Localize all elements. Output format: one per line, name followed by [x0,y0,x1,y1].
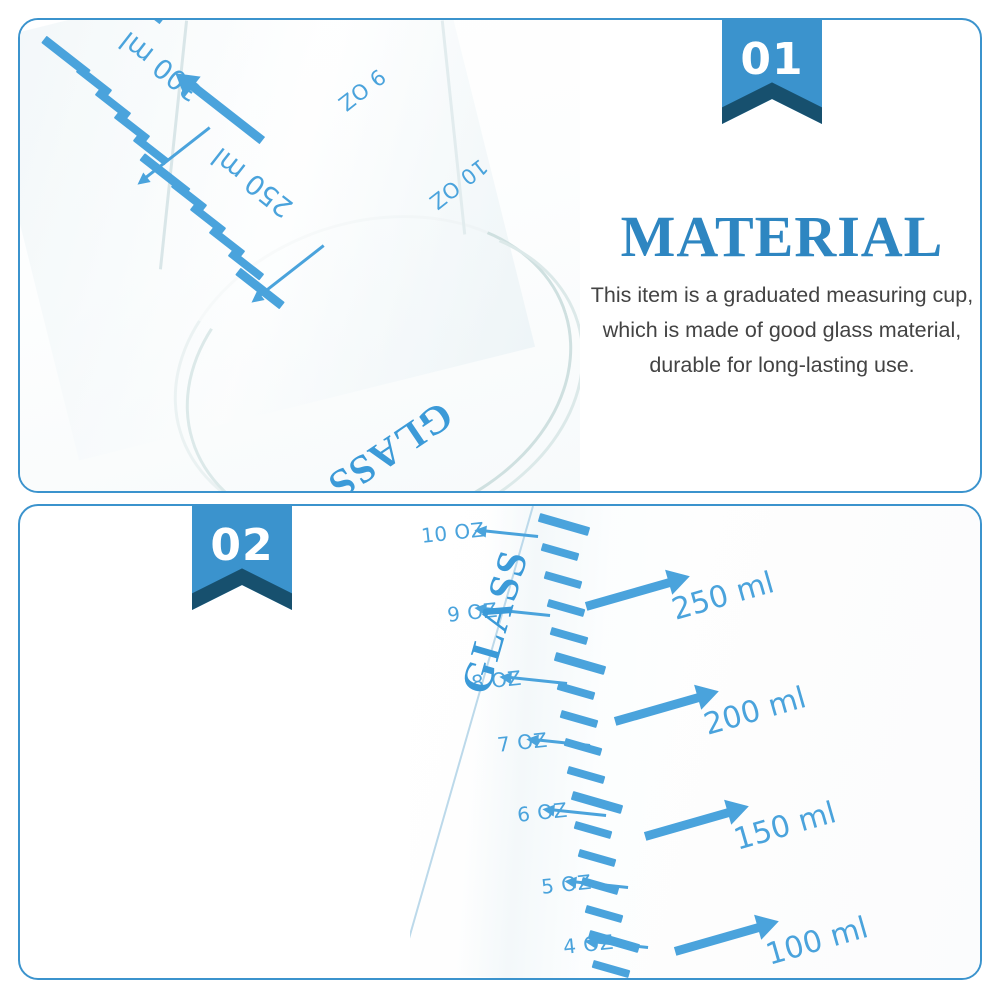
scale-tick [592,960,631,978]
ml-arrow-300 [67,20,162,21]
scale-tick [574,821,613,839]
ribbon-number: 01 [722,20,822,98]
scale-tick [560,710,599,728]
scale-tick [564,738,603,756]
feature-card-design: 250 ml 200 ml 150 ml 100 ml 10 OZ 9 OZ 8… [18,504,982,980]
oz-label-10: 10 OZ [425,154,492,214]
feature-text-material: MATERIAL This item is a graduated measur… [572,208,982,382]
scale-tick [557,682,596,700]
infographic-canvas: 250 ml 300 ml 9 OZ 10 OZ GLASS 01 MATERI… [0,0,1000,1000]
scale-tick [209,227,245,258]
oz-label-4: 4 OZ [562,930,615,959]
step-badge-02: 02 [192,506,292,610]
scale-group-inverted: 250 ml 300 ml 9 OZ 10 OZ GLASS [20,20,580,491]
step-badge-01: 01 [722,20,822,124]
oz-label-7: 7 OZ [496,728,549,757]
scale-tick [544,571,583,589]
scale-tick [550,627,589,645]
product-photo-inverted-cup: 250 ml 300 ml 9 OZ 10 OZ GLASS [20,20,580,491]
scale-tick [95,89,131,120]
brand-text-glass: GLASS [319,392,462,491]
feature-card-material: 250 ml 300 ml 9 OZ 10 OZ GLASS 01 MATERI… [18,18,982,493]
scale-tick [578,849,617,867]
product-photo-scale-closeup: 250 ml 200 ml 150 ml 100 ml 10 OZ 9 OZ 8… [410,506,982,978]
scale-tick [76,66,112,97]
scale-tick [554,652,606,675]
oz-label-10: 10 OZ [420,517,486,548]
scale-tick [541,543,580,561]
scale-tick [171,181,207,212]
oz-label-6: 6 OZ [516,798,569,827]
ribbon-number: 02 [192,506,292,584]
scale-tick [585,905,624,923]
scale-tick [538,513,590,536]
scale-tick [571,791,623,814]
scale-tick [567,766,606,784]
scale-group: 250 ml 200 ml 150 ml 100 ml 10 OZ 9 OZ 8… [410,506,982,978]
oz-label-9: 9 OZ [333,64,390,116]
scale-tick [547,599,586,617]
oz-label-5: 5 OZ [540,870,593,899]
description-material: This item is a graduated measuring cup, … [572,278,982,382]
ml-label-250: 250 ml [206,141,299,223]
scale-tick [114,112,150,143]
page-title-material: MATERIAL [572,208,982,266]
scale-tick [190,204,226,235]
ml-label-300: 300 ml [114,25,207,107]
